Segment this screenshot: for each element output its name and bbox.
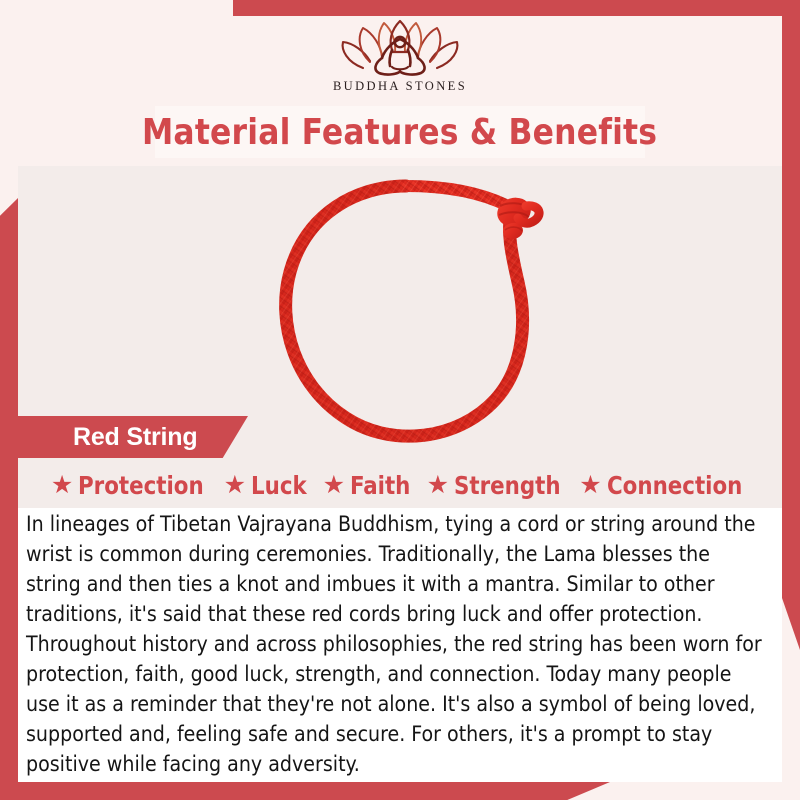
- star-icon: ★: [579, 473, 601, 498]
- star-icon: ★: [51, 473, 73, 498]
- star-icon: ★: [427, 473, 449, 498]
- title-banner: Material Features & Benefits: [155, 106, 645, 158]
- description-text: In lineages of Tibetan Vajrayana Buddhis…: [26, 510, 767, 780]
- feature-item-protection: ★ Protection: [51, 471, 211, 500]
- star-icon: ★: [224, 473, 246, 498]
- feature-label: Strength: [454, 471, 561, 500]
- decor-left-red-strip: [0, 198, 18, 790]
- feature-label: Luck: [251, 471, 307, 500]
- brand-wordmark: BUDDHA STONES: [333, 79, 467, 94]
- star-icon: ★: [323, 473, 345, 498]
- lotus-meditation-icon: [337, 16, 463, 78]
- feature-label: Faith: [350, 471, 410, 500]
- brand-header: BUDDHA STONES: [0, 16, 800, 102]
- decor-bottom-red-band: [0, 782, 610, 800]
- feature-label: Connection: [607, 471, 742, 500]
- feature-item-connection: ★ Connection: [579, 471, 749, 500]
- feature-label: Protection: [78, 471, 204, 500]
- product-image: [260, 168, 560, 452]
- page-title: Material Features & Benefits: [142, 112, 657, 153]
- feature-item-luck: ★ Luck: [224, 471, 310, 500]
- red-braided-string-bracelet-icon: [260, 168, 560, 452]
- product-info-poster: BUDDHA STONES Material Features & Benefi…: [0, 0, 800, 800]
- features-row: ★ Protection ★ Luck ★ Faith ★ Strength ★…: [18, 466, 782, 504]
- product-name-label: Red String: [73, 423, 197, 452]
- feature-item-strength: ★ Strength: [427, 471, 567, 500]
- feature-item-faith: ★ Faith: [323, 471, 414, 500]
- decor-top-red-band: [233, 0, 800, 16]
- product-name-ribbon: Red String: [18, 416, 248, 458]
